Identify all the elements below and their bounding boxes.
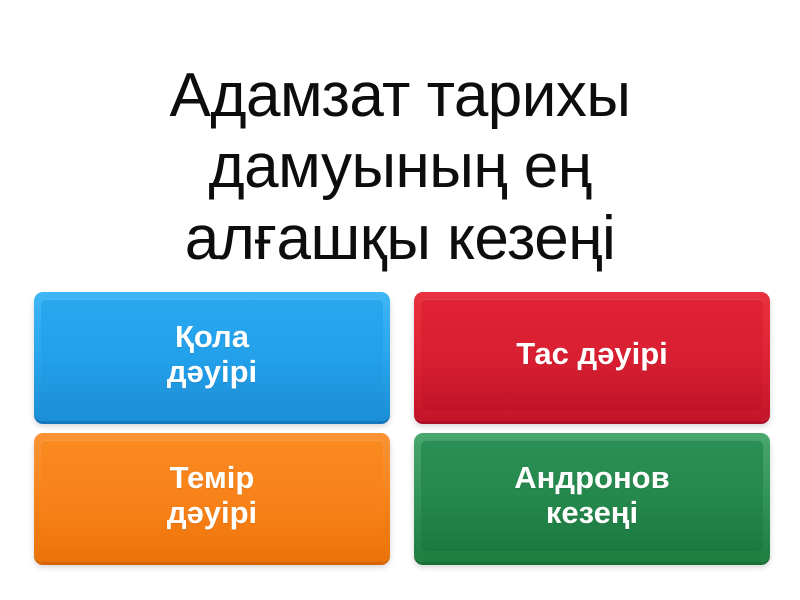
answer-option-blue-face: Қола дәуірі [41,299,383,410]
answer-option-orange[interactable]: Темір дәуірі [34,433,390,562]
answer-option-red[interactable]: Тас дәуірі [414,292,770,421]
answer-option-blue-label: Қола дәуірі [167,320,257,389]
answer-option-green-label: Андронов кезеңі [514,461,669,530]
question-title: Адамзат тарихы дамуының ең алғашқы кезең… [0,60,800,276]
answer-options-grid: Қола дәуірі Тас дәуірі Темір дәуірі Андр… [34,292,770,562]
answer-option-blue[interactable]: Қола дәуірі [34,292,390,421]
answer-option-orange-face: Темір дәуірі [41,440,383,551]
answer-option-green-face: Андронов кезеңі [421,440,763,551]
answer-option-red-face: Тас дәуірі [421,299,763,410]
answer-option-orange-label: Темір дәуірі [167,461,257,530]
answer-option-red-label: Тас дәуірі [516,337,668,372]
answer-option-green[interactable]: Андронов кезеңі [414,433,770,562]
quiz-screen: Адамзат тарихы дамуының ең алғашқы кезең… [0,0,800,600]
